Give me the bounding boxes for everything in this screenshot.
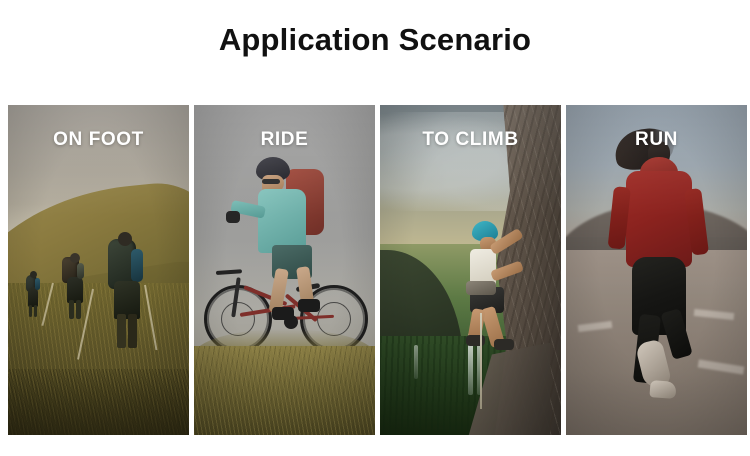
scenario-panel-to-climb[interactable]: TO CLIMB [380, 105, 561, 435]
hiker-figure-main [104, 239, 160, 349]
climbing-scene-image [380, 105, 561, 435]
hiking-scene-image [8, 105, 189, 435]
runner-figure [610, 129, 712, 421]
running-scene-image [566, 105, 747, 435]
page-title: Application Scenario [0, 20, 750, 60]
hiker-figure-far [24, 273, 46, 319]
scenario-label-ride: RIDE [194, 129, 375, 151]
scenario-panel-ride[interactable]: RIDE [194, 105, 375, 435]
scenario-label-to-climb: TO CLIMB [380, 129, 561, 151]
cycling-scene-image [194, 105, 375, 435]
scenario-label-run: RUN [566, 129, 747, 151]
climber-figure [464, 221, 544, 361]
application-scenario-page: Application Scenario [0, 0, 750, 456]
scenario-panel-row: ON FOOT [8, 105, 742, 435]
scenario-label-on-foot: ON FOOT [8, 129, 189, 151]
cyclist-figure [224, 157, 344, 337]
scenario-panel-on-foot[interactable]: ON FOOT [8, 105, 189, 435]
scenario-panel-run[interactable]: RUN [566, 105, 747, 435]
